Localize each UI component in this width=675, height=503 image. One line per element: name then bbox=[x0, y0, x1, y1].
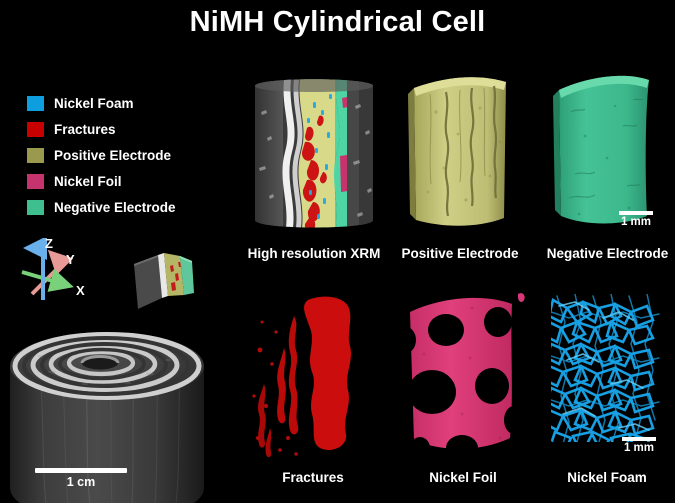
panel-nickel-foam bbox=[545, 288, 669, 448]
nickel-foam-network bbox=[545, 294, 659, 448]
panel-nickel-foil bbox=[400, 288, 528, 460]
figure-title: NiMH Cylindrical Cell bbox=[0, 6, 675, 39]
svg-text:Y: Y bbox=[66, 252, 75, 267]
axis-x-arrow bbox=[22, 272, 70, 286]
legend-label-positive-electrode: Positive Electrode bbox=[54, 148, 171, 163]
scalebar-overview: 1 cm bbox=[35, 468, 127, 489]
extracted-roi-subvolume bbox=[128, 252, 200, 314]
panel-caption-negative-electrode: Negative Electrode bbox=[540, 246, 675, 261]
panel-caption-positive-electrode: Positive Electrode bbox=[395, 246, 525, 261]
scalebar-nickel-foam-bar bbox=[622, 437, 656, 441]
scalebar-negative-electrode: 1 mm bbox=[619, 211, 653, 228]
svg-text:Z: Z bbox=[45, 238, 53, 251]
scalebar-negative-electrode-label: 1 mm bbox=[619, 216, 653, 228]
legend-swatch-negative-electrode bbox=[27, 200, 44, 215]
scalebar-nickel-foam: 1 mm bbox=[622, 437, 656, 454]
panel-caption-high-resolution-xrm: High resolution XRM bbox=[243, 246, 385, 261]
legend-label-nickel-foam: Nickel Foam bbox=[54, 96, 134, 111]
legend-item-nickel-foil: Nickel Foil bbox=[27, 170, 176, 193]
legend-swatch-positive-electrode bbox=[27, 148, 44, 163]
figure-canvas: NiMH Cylindrical Cell Nickel Foam Fractu… bbox=[0, 0, 675, 503]
legend-item-nickel-foam: Nickel Foam bbox=[27, 92, 176, 115]
fractures-main-mass bbox=[304, 297, 351, 450]
color-legend: Nickel Foam Fractures Positive Electrode… bbox=[27, 92, 176, 222]
negative-electrode-body bbox=[559, 76, 649, 224]
panel-caption-nickel-foam: Nickel Foam bbox=[543, 470, 671, 485]
panel-high-resolution-xrm bbox=[243, 72, 385, 234]
legend-swatch-nickel-foam bbox=[27, 96, 44, 111]
legend-swatch-fractures bbox=[27, 122, 44, 137]
panel-fractures bbox=[250, 288, 376, 460]
legend-label-nickel-foil: Nickel Foil bbox=[54, 174, 122, 189]
legend-swatch-nickel-foil bbox=[27, 174, 44, 189]
fractures-left-streaks bbox=[258, 384, 271, 457]
fractures-mid-streaks bbox=[277, 316, 298, 434]
panel-negative-electrode bbox=[545, 66, 663, 234]
scalebar-negative-electrode-bar bbox=[619, 211, 653, 215]
nickel-foil-sheet bbox=[400, 288, 528, 460]
legend-label-negative-electrode: Negative Electrode bbox=[54, 200, 176, 215]
panel-caption-fractures: Fractures bbox=[250, 470, 376, 485]
scalebar-overview-bar bbox=[35, 468, 127, 473]
legend-item-negative-electrode: Negative Electrode bbox=[27, 196, 176, 219]
scalebar-overview-label: 1 cm bbox=[35, 475, 127, 489]
legend-item-fractures: Fractures bbox=[27, 118, 176, 141]
legend-item-positive-electrode: Positive Electrode bbox=[27, 144, 176, 167]
scalebar-nickel-foam-label: 1 mm bbox=[622, 442, 656, 454]
panel-positive-electrode bbox=[400, 72, 520, 234]
panel-caption-nickel-foil: Nickel Foil bbox=[398, 470, 528, 485]
legend-label-fractures: Fractures bbox=[54, 122, 116, 137]
